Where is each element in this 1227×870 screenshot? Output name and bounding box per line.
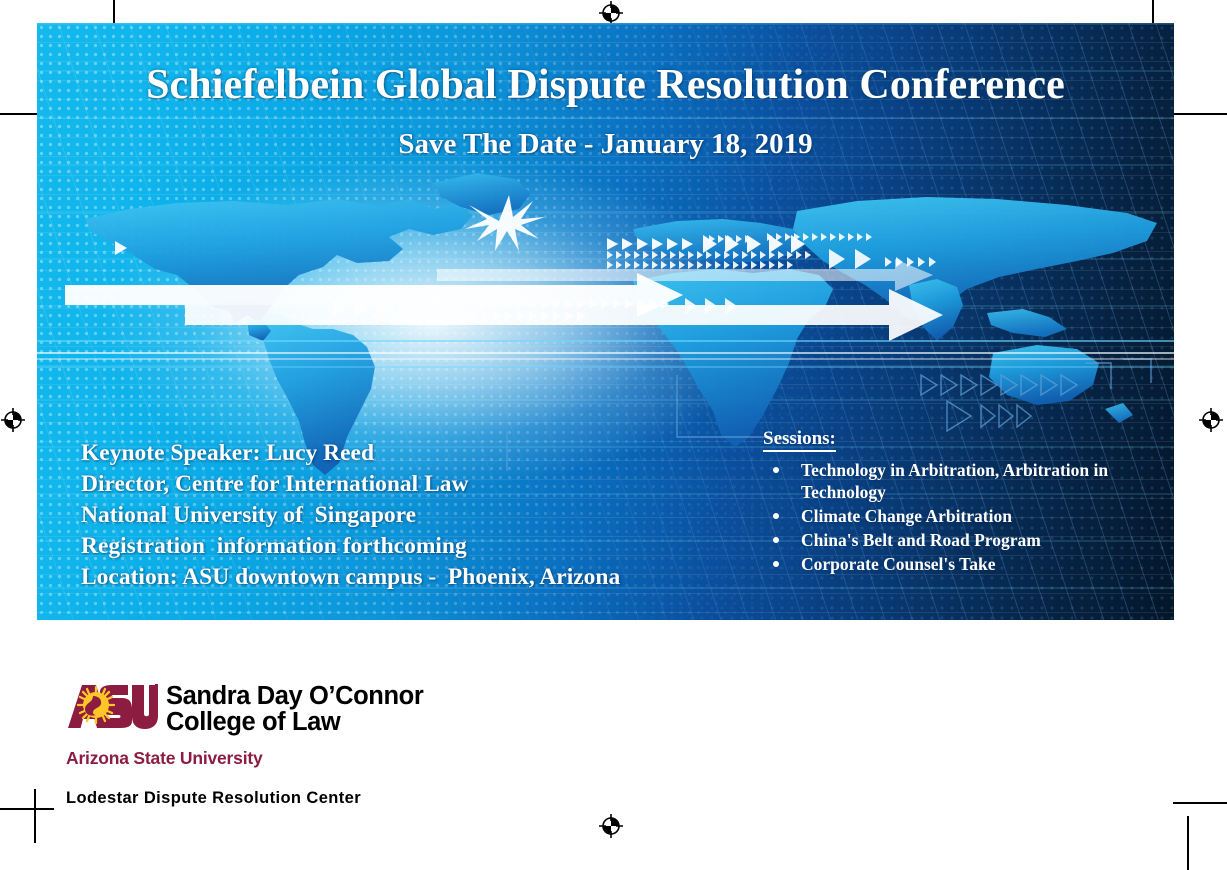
detail-registration: Registration information forthcoming xyxy=(81,531,741,562)
crop-mark-top-right-horizontal xyxy=(1173,113,1227,115)
list-item: Climate Change Arbitration xyxy=(763,505,1155,527)
page-subtitle: Save The Date - January 18, 2019 xyxy=(37,128,1174,161)
session-label: China's Belt and Road Program xyxy=(801,530,1041,550)
asu-logo-lockup: Sandra Day O’Connor College of Law Arizo… xyxy=(66,683,423,808)
registration-target-icon-right xyxy=(1198,407,1224,433)
sessions-panel: Sessions: Technology in Arbitration, Arb… xyxy=(763,427,1155,577)
list-item: Corporate Counsel's Take xyxy=(763,553,1155,575)
college-name: Sandra Day O’Connor College of Law xyxy=(166,683,423,735)
session-label: Climate Change Arbitration xyxy=(801,506,1012,526)
detail-keynote-speaker: Keynote Speaker: Lucy Reed xyxy=(81,438,741,469)
registration-target-icon-bottom xyxy=(598,813,624,839)
session-label: Corporate Counsel's Take xyxy=(801,554,995,574)
sessions-heading: Sessions: xyxy=(763,427,836,452)
session-label: Technology in Arbitration, Arbitration i… xyxy=(801,460,1108,502)
asu-pitchfork-mark-icon xyxy=(66,683,158,730)
detail-location: Location: ASU downtown campus - Phoenix,… xyxy=(81,562,741,593)
crop-mark-bottom-right-horizontal xyxy=(1173,802,1227,804)
crop-mark-bottom-left-horizontal xyxy=(0,808,54,810)
college-name-line2: College of Law xyxy=(166,710,423,736)
bullet-icon xyxy=(773,467,779,473)
crop-mark-bottom-left-vertical xyxy=(34,789,36,843)
bullet-icon xyxy=(773,561,779,567)
detail-speaker-affiliation: National University of Singapore xyxy=(81,500,741,531)
registration-target-icon-left xyxy=(0,407,26,433)
list-item: Technology in Arbitration, Arbitration i… xyxy=(763,459,1155,503)
event-details: Keynote Speaker: Lucy Reed Director, Cen… xyxy=(81,438,741,593)
list-item: China's Belt and Road Program xyxy=(763,529,1155,551)
college-name-line1: Sandra Day O’Connor xyxy=(166,684,423,710)
logo-row: Sandra Day O’Connor College of Law xyxy=(66,683,423,735)
university-name: Arizona State University xyxy=(66,748,423,769)
bullet-icon xyxy=(773,513,779,519)
sessions-list: Technology in Arbitration, Arbitration i… xyxy=(763,459,1155,575)
conference-banner: Schiefelbein Global Dispute Resolution C… xyxy=(37,23,1174,620)
page-title: Schiefelbein Global Dispute Resolution C… xyxy=(37,61,1174,109)
bullet-icon xyxy=(773,537,779,543)
detail-speaker-title: Director, Centre for International Law xyxy=(81,469,741,500)
center-name: Lodestar Dispute Resolution Center xyxy=(66,789,423,808)
crop-mark-bottom-right-vertical xyxy=(1187,816,1189,870)
